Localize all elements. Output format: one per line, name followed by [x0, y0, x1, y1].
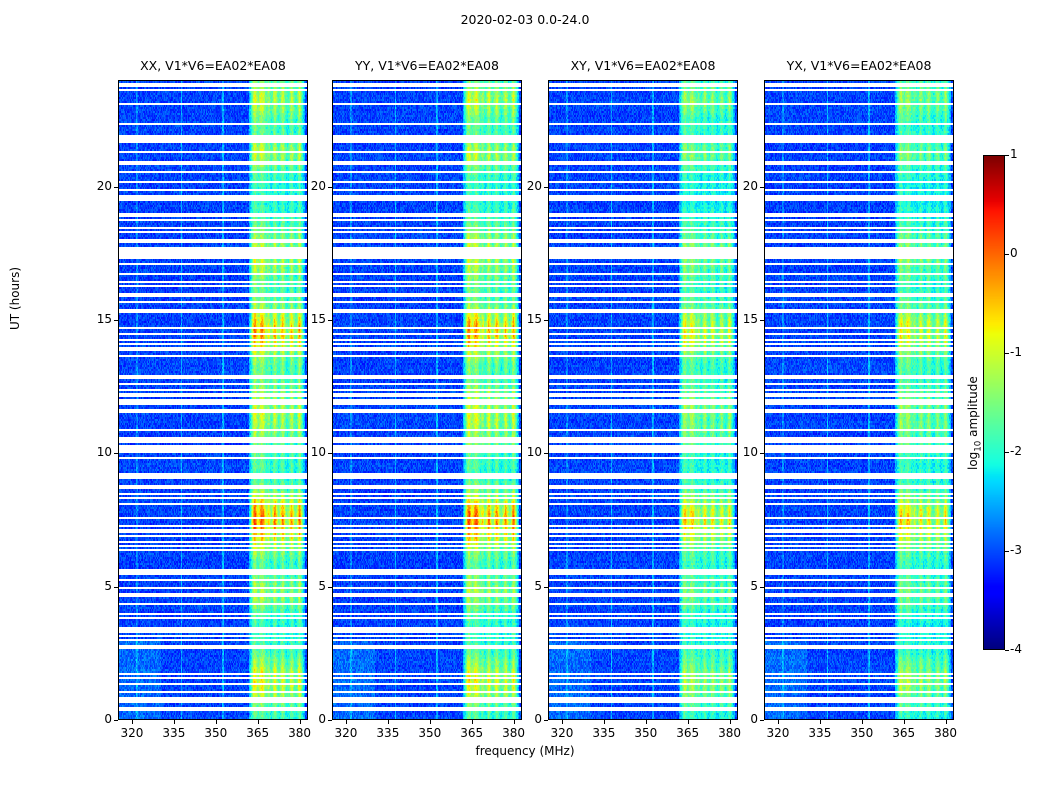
- y-tick-mark: [544, 320, 548, 321]
- spectrogram-panel-xx: [118, 80, 308, 720]
- y-tick-label: 10: [78, 445, 112, 459]
- y-tick-label: 15: [78, 312, 112, 326]
- colorbar-tick-mark: [1005, 155, 1009, 156]
- panel-title-xx: XX, V1*V6=EA02*EA08: [118, 58, 308, 73]
- y-tick-mark: [760, 587, 764, 588]
- x-tick-mark: [604, 720, 605, 724]
- y-tick-label: 10: [724, 445, 758, 459]
- x-tick-label: 350: [199, 726, 233, 740]
- colorbar-tick-mark: [1005, 452, 1009, 453]
- spectrogram-image: [765, 81, 954, 720]
- x-tick-label: 320: [545, 726, 579, 740]
- y-tick-label: 0: [292, 712, 326, 726]
- spectrogram-panel-yy: [332, 80, 522, 720]
- y-tick-mark: [544, 187, 548, 188]
- x-tick-label: 335: [157, 726, 191, 740]
- x-tick-label: 365: [887, 726, 921, 740]
- x-tick-mark: [946, 720, 947, 724]
- y-tick-mark: [114, 187, 118, 188]
- x-tick-mark: [388, 720, 389, 724]
- y-tick-mark: [544, 587, 548, 588]
- y-tick-label: 0: [724, 712, 758, 726]
- y-tick-mark: [114, 320, 118, 321]
- x-tick-label: 335: [803, 726, 837, 740]
- x-tick-mark: [258, 720, 259, 724]
- y-tick-label: 10: [292, 445, 326, 459]
- x-tick-label: 380: [929, 726, 963, 740]
- colorbar-tick-label: 0: [1010, 246, 1018, 260]
- y-axis-label: UT (hours): [8, 267, 22, 330]
- x-tick-label: 365: [671, 726, 705, 740]
- colorbar-tick-mark: [1005, 650, 1009, 651]
- panel-title-yy: YY, V1*V6=EA02*EA08: [332, 58, 522, 73]
- y-tick-mark: [114, 720, 118, 721]
- x-tick-mark: [562, 720, 563, 724]
- y-tick-mark: [544, 453, 548, 454]
- x-tick-mark: [778, 720, 779, 724]
- y-tick-label: 20: [724, 179, 758, 193]
- x-tick-label: 380: [713, 726, 747, 740]
- colorbar-tick-mark: [1005, 353, 1009, 354]
- y-tick-label: 15: [508, 312, 542, 326]
- x-tick-label: 380: [283, 726, 317, 740]
- y-tick-mark: [328, 720, 332, 721]
- x-tick-label: 320: [329, 726, 363, 740]
- spectrogram-panel-yx: [764, 80, 954, 720]
- x-tick-label: 320: [115, 726, 149, 740]
- x-tick-label: 365: [455, 726, 489, 740]
- x-tick-label: 335: [371, 726, 405, 740]
- x-tick-mark: [688, 720, 689, 724]
- y-tick-label: 10: [508, 445, 542, 459]
- figure-suptitle: 2020-02-03 0.0-24.0: [0, 12, 1050, 27]
- x-tick-mark: [132, 720, 133, 724]
- x-tick-mark: [472, 720, 473, 724]
- y-tick-mark: [760, 187, 764, 188]
- colorbar: [983, 155, 1005, 650]
- y-tick-label: 20: [78, 179, 112, 193]
- y-tick-label: 0: [78, 712, 112, 726]
- x-tick-mark: [430, 720, 431, 724]
- y-tick-label: 5: [508, 579, 542, 593]
- y-tick-mark: [328, 587, 332, 588]
- panel-title-xy: XY, V1*V6=EA02*EA08: [548, 58, 738, 73]
- y-tick-label: 5: [724, 579, 758, 593]
- x-tick-label: 350: [629, 726, 663, 740]
- x-tick-label: 350: [845, 726, 879, 740]
- x-tick-label: 365: [241, 726, 275, 740]
- panel-title-yx: YX, V1*V6=EA02*EA08: [764, 58, 954, 73]
- x-tick-mark: [174, 720, 175, 724]
- y-tick-mark: [114, 453, 118, 454]
- y-tick-mark: [328, 187, 332, 188]
- x-tick-mark: [346, 720, 347, 724]
- x-tick-label: 350: [413, 726, 447, 740]
- y-tick-label: 20: [292, 179, 326, 193]
- x-axis-label: frequency (MHz): [0, 744, 1050, 758]
- colorbar-tick-label: 1: [1010, 147, 1018, 161]
- x-tick-mark: [646, 720, 647, 724]
- y-tick-label: 15: [292, 312, 326, 326]
- x-tick-mark: [216, 720, 217, 724]
- y-tick-label: 5: [292, 579, 326, 593]
- colorbar-tick-mark: [1005, 551, 1009, 552]
- spectrogram-image: [549, 81, 738, 720]
- y-tick-label: 5: [78, 579, 112, 593]
- colorbar-label: log10 amplitude: [966, 376, 983, 470]
- x-tick-label: 380: [497, 726, 531, 740]
- y-tick-mark: [328, 320, 332, 321]
- y-tick-mark: [760, 720, 764, 721]
- colorbar-tick-label: -2: [1010, 444, 1022, 458]
- y-tick-mark: [544, 720, 548, 721]
- x-tick-mark: [862, 720, 863, 724]
- x-tick-label: 335: [587, 726, 621, 740]
- x-tick-mark: [904, 720, 905, 724]
- spectrogram-panel-xy: [548, 80, 738, 720]
- colorbar-tick-label: -4: [1010, 642, 1022, 656]
- y-tick-label: 20: [508, 179, 542, 193]
- spectrogram-image: [119, 81, 308, 720]
- y-tick-mark: [760, 453, 764, 454]
- y-tick-label: 0: [508, 712, 542, 726]
- y-tick-mark: [328, 453, 332, 454]
- x-tick-mark: [820, 720, 821, 724]
- x-tick-label: 320: [761, 726, 795, 740]
- y-tick-mark: [114, 587, 118, 588]
- y-tick-mark: [760, 320, 764, 321]
- colorbar-tick-label: -1: [1010, 345, 1022, 359]
- colorbar-tick-label: -3: [1010, 543, 1022, 557]
- spectrogram-image: [333, 81, 522, 720]
- y-tick-label: 15: [724, 312, 758, 326]
- colorbar-tick-mark: [1005, 254, 1009, 255]
